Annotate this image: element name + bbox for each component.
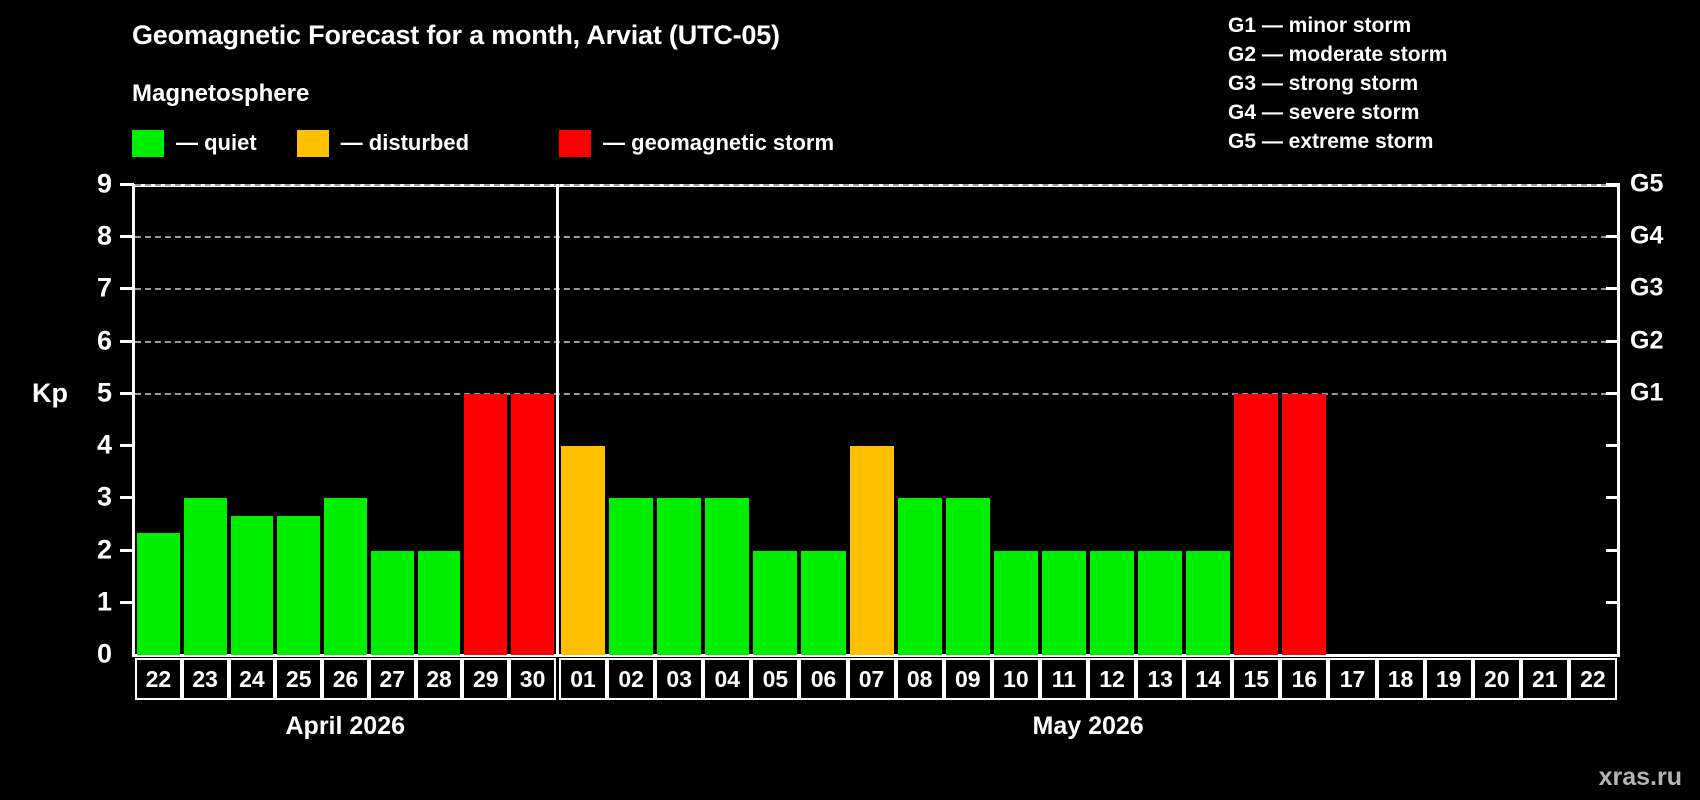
g-scale-legend-item: G4 — severe storm xyxy=(1228,98,1447,127)
y-axis-tick-mark xyxy=(120,496,134,499)
bar-slot xyxy=(182,184,229,655)
month-label: April 2026 xyxy=(286,712,406,741)
bar-slot xyxy=(1232,184,1280,655)
bar-slot xyxy=(896,184,944,655)
bar-slot xyxy=(799,184,847,655)
date-axis-cell: 05 xyxy=(751,658,799,700)
date-axis-cell: 02 xyxy=(607,658,655,700)
bar-slot xyxy=(135,184,182,655)
date-axis-cell: 19 xyxy=(1425,658,1473,700)
date-axis-cell: 12 xyxy=(1088,658,1136,700)
g-scale-legend-item: G3 — strong storm xyxy=(1228,69,1447,98)
legend-item: — geomagnetic storm xyxy=(559,130,834,157)
bar xyxy=(137,533,180,655)
bar-slot xyxy=(369,184,416,655)
bar xyxy=(1138,551,1182,655)
bar-series xyxy=(135,184,1617,655)
bar xyxy=(231,516,274,655)
y-axis-tick-label: 4 xyxy=(60,430,112,461)
g-axis-tick-mark xyxy=(1606,235,1620,238)
bar-slot xyxy=(944,184,992,655)
date-axis: 2223242526272829300102030405060708091011… xyxy=(135,658,1617,700)
y-axis-tick-mark xyxy=(120,444,134,447)
bar-slot xyxy=(751,184,799,655)
bar-slot xyxy=(1184,184,1232,655)
bar xyxy=(609,498,653,655)
g-scale-legend-item: G5 — extreme storm xyxy=(1228,127,1447,156)
bar xyxy=(1042,551,1086,655)
date-axis-cell: 27 xyxy=(369,658,416,700)
g-scale-legend: G1 — minor stormG2 — moderate stormG3 — … xyxy=(1228,11,1447,156)
y-axis-tick-label: 6 xyxy=(60,325,112,356)
g-axis-tick-label: G1 xyxy=(1630,378,1663,407)
date-axis-cell: 15 xyxy=(1232,658,1280,700)
bar-slot xyxy=(992,184,1040,655)
page-title: Geomagnetic Forecast for a month, Arviat… xyxy=(132,20,780,51)
date-axis-cell: 03 xyxy=(655,658,703,700)
bar xyxy=(464,394,507,655)
date-axis-cell: 23 xyxy=(182,658,229,700)
bar-slot xyxy=(559,184,607,655)
date-axis-cell: 18 xyxy=(1377,658,1425,700)
date-axis-cell: 09 xyxy=(944,658,992,700)
y-axis-tick-mark xyxy=(120,549,134,552)
month-divider xyxy=(556,184,559,655)
bar xyxy=(1282,394,1326,655)
legend-swatch-icon xyxy=(297,130,329,157)
g-axis-tick-label: G3 xyxy=(1630,274,1663,303)
bar xyxy=(753,551,797,655)
y-axis-tick-label: 1 xyxy=(60,586,112,617)
y-axis-tick-mark xyxy=(120,235,134,238)
bar xyxy=(994,551,1038,655)
bar-slot xyxy=(1088,184,1136,655)
bar-slot xyxy=(1136,184,1184,655)
legend-item-label: — disturbed xyxy=(341,130,469,156)
g-scale-legend-item: G1 — minor storm xyxy=(1228,11,1447,40)
bar xyxy=(946,498,990,655)
bar-slot xyxy=(1040,184,1088,655)
date-axis-cell: 24 xyxy=(229,658,276,700)
g-scale-legend-item: G2 — moderate storm xyxy=(1228,40,1447,69)
legend-swatch-icon xyxy=(132,130,164,157)
g-axis-tick-mark xyxy=(1606,392,1620,395)
date-axis-cell: 13 xyxy=(1136,658,1184,700)
y-axis-labels: 9876543210 xyxy=(60,0,112,800)
y-axis-tick-mark xyxy=(120,183,134,186)
g-axis-tick-mark xyxy=(1606,287,1620,290)
y-axis-tick-label: 8 xyxy=(60,221,112,252)
date-axis-cell: 07 xyxy=(848,658,896,700)
bar-slot xyxy=(509,184,556,655)
date-axis-cell: 21 xyxy=(1521,658,1569,700)
bar xyxy=(418,551,461,655)
date-axis-cell: 30 xyxy=(509,658,556,700)
y-axis-tick-mark xyxy=(120,601,134,604)
g-axis-tick-mark xyxy=(1606,601,1620,604)
legend-item-label: — geomagnetic storm xyxy=(603,130,834,156)
bar-slot xyxy=(655,184,703,655)
date-axis-cell: 11 xyxy=(1040,658,1088,700)
date-axis-cell: 22 xyxy=(1569,658,1617,700)
date-axis-cell: 08 xyxy=(896,658,944,700)
date-axis-cell: 01 xyxy=(559,658,607,700)
date-axis-cell: 20 xyxy=(1473,658,1521,700)
bar xyxy=(511,394,554,655)
month-label: May 2026 xyxy=(1033,712,1144,741)
g-axis-labels: G5G4G3G2G1 xyxy=(1630,0,1694,800)
bar xyxy=(1090,551,1134,655)
g-axis-tick-label: G4 xyxy=(1630,222,1663,251)
bar xyxy=(705,498,749,655)
legend: — quiet— disturbed— geomagnetic storm xyxy=(132,128,834,158)
g-axis-tick-label: G5 xyxy=(1630,170,1663,199)
bar-slot xyxy=(416,184,463,655)
date-axis-cell: 14 xyxy=(1184,658,1232,700)
y-axis-tick-label: 3 xyxy=(60,482,112,513)
date-axis-cell: 29 xyxy=(462,658,509,700)
g-axis-tick-mark xyxy=(1606,340,1620,343)
y-axis-tick-mark xyxy=(120,392,134,395)
bar xyxy=(561,446,605,655)
date-axis-cell: 10 xyxy=(992,658,1040,700)
date-axis-cell: 16 xyxy=(1280,658,1328,700)
bar-slot xyxy=(275,184,322,655)
y-axis-tick-label: 2 xyxy=(60,534,112,565)
g-axis-tick-mark xyxy=(1606,496,1620,499)
bar xyxy=(898,498,942,655)
g-axis-tick-label: G2 xyxy=(1630,326,1663,355)
y-axis-tick-mark xyxy=(120,340,134,343)
bar xyxy=(371,551,414,655)
bar-slot xyxy=(229,184,276,655)
bar xyxy=(184,498,227,655)
date-axis-cell: 17 xyxy=(1328,658,1376,700)
legend-swatch-icon xyxy=(559,130,591,157)
g-axis-tick-mark xyxy=(1606,183,1620,186)
bar xyxy=(1234,394,1278,655)
bar xyxy=(277,516,320,655)
bar-slot xyxy=(607,184,655,655)
y-axis-tick-label: 9 xyxy=(60,169,112,200)
bar-slot xyxy=(1280,184,1328,655)
legend-heading: Magnetosphere xyxy=(132,80,309,108)
legend-item: — disturbed xyxy=(297,130,469,157)
watermark: xras.ru xyxy=(1599,763,1682,792)
bar-slot xyxy=(462,184,509,655)
bar-slot xyxy=(322,184,369,655)
y-axis-tick-label: 5 xyxy=(60,377,112,408)
date-axis-cell: 28 xyxy=(416,658,463,700)
date-axis-cell: 25 xyxy=(275,658,322,700)
date-axis-cell: 04 xyxy=(703,658,751,700)
bar xyxy=(324,498,367,655)
y-axis-tick-mark xyxy=(120,287,134,290)
bar xyxy=(657,498,701,655)
bar xyxy=(801,551,845,655)
g-axis-tick-mark xyxy=(1606,549,1620,552)
date-axis-cell: 06 xyxy=(799,658,847,700)
bar-slot xyxy=(848,184,896,655)
y-axis-tick-label: 7 xyxy=(60,273,112,304)
date-axis-cell: 26 xyxy=(322,658,369,700)
date-axis-cell: 22 xyxy=(135,658,182,700)
bar xyxy=(850,446,894,655)
legend-item-label: — quiet xyxy=(176,130,257,156)
legend-item: — quiet xyxy=(132,130,257,157)
g-axis-tick-mark xyxy=(1606,444,1620,447)
bar-slot xyxy=(703,184,751,655)
bar xyxy=(1186,551,1230,655)
y-axis-tick-label: 0 xyxy=(60,639,112,670)
